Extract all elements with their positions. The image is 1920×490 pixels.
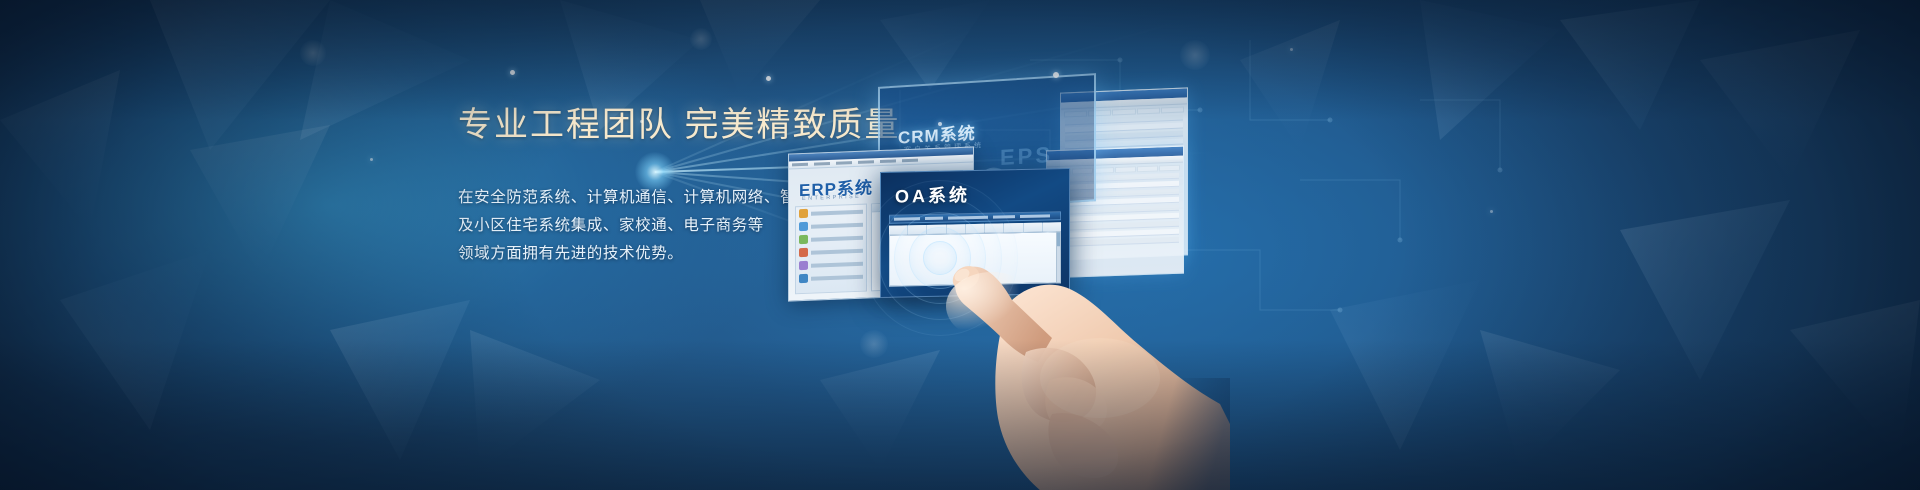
particle-dot bbox=[766, 76, 771, 81]
particle-dot bbox=[1053, 72, 1059, 78]
sidebar-item[interactable] bbox=[796, 270, 866, 286]
particle-dot bbox=[1290, 48, 1293, 51]
particle-spark bbox=[300, 40, 326, 66]
particle-spark bbox=[690, 28, 712, 50]
particle-dot bbox=[370, 158, 373, 161]
crm-watermark: EPS bbox=[1000, 142, 1053, 171]
particle-dot bbox=[510, 70, 515, 75]
oa-window-title: OA系统 bbox=[895, 181, 970, 209]
erp-window-subtitle: ENTERPRISE bbox=[802, 194, 861, 202]
particle-dot bbox=[1490, 210, 1493, 213]
particle-spark bbox=[860, 330, 888, 358]
promo-banner: 专业工程团队 完美精致质量 在安全防范系统、计算机通信、计算机网络、智能大厦 及… bbox=[0, 0, 1920, 490]
particle-spark bbox=[1180, 40, 1210, 70]
pointing-hand-icon bbox=[900, 228, 1230, 490]
particle-dot bbox=[640, 120, 643, 123]
erp-sidebar bbox=[795, 204, 867, 295]
particle-dot bbox=[938, 122, 942, 126]
